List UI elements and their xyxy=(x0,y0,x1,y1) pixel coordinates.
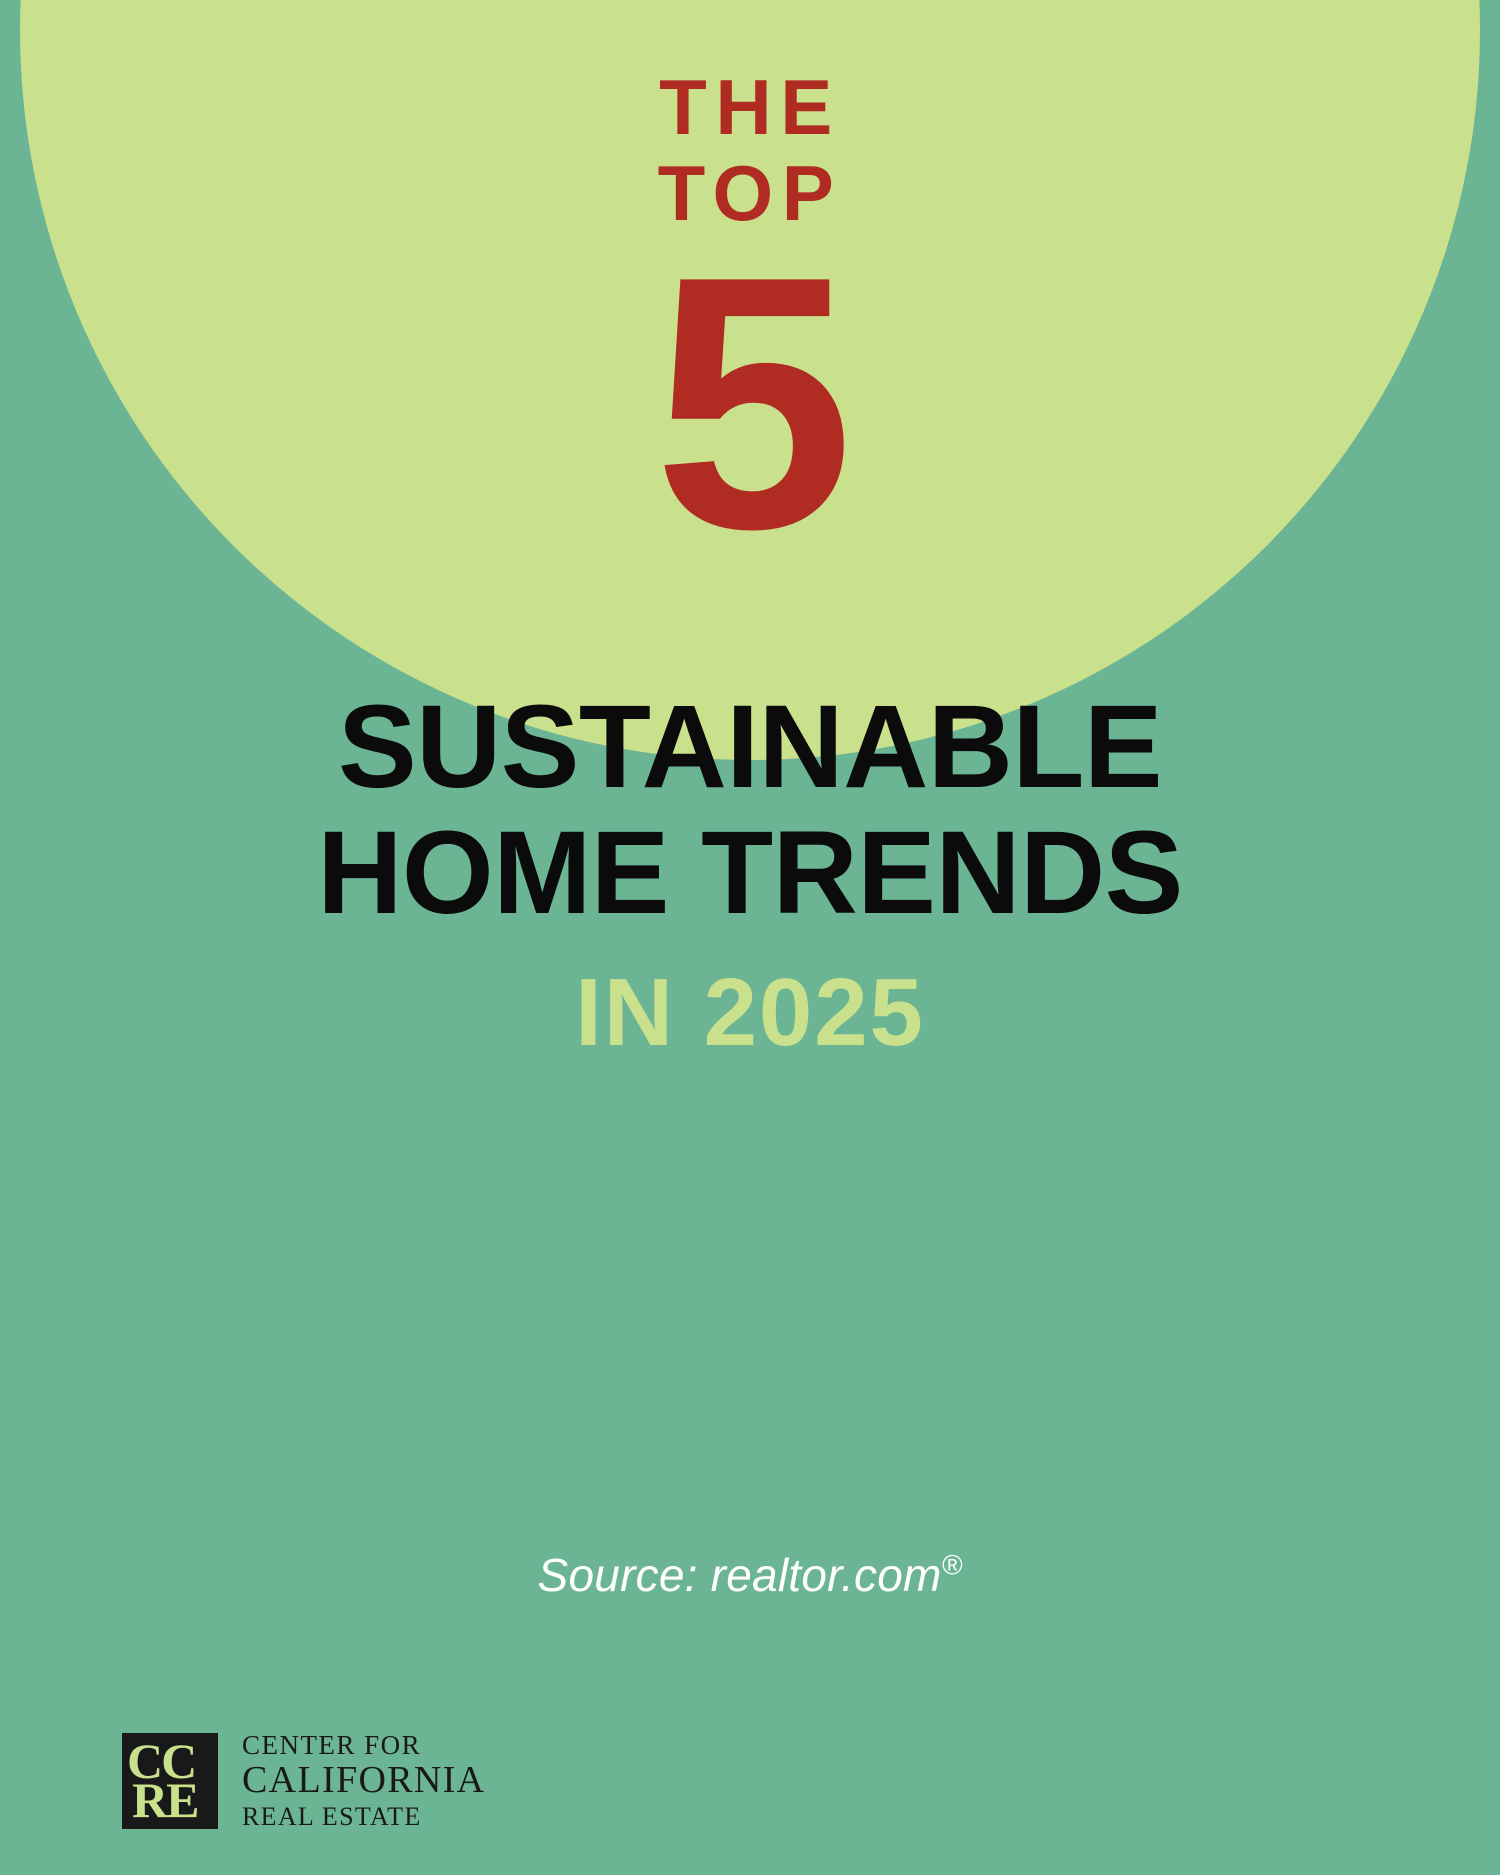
headline-line-2: HOME TRENDS xyxy=(0,816,1500,932)
headline-block: SUSTAINABLE HOME TRENDS IN 2025 xyxy=(0,690,1500,1061)
source-block: Source: realtor.com® xyxy=(0,1548,1500,1602)
poster-canvas: THE TOP 5 SUSTAINABLE HOME TRENDS IN 202… xyxy=(0,0,1500,1875)
rank-numeral: 5 xyxy=(0,252,1500,554)
ccre-logo: CC RE CENTER FOR CALIFORNIA REAL ESTATE xyxy=(122,1730,485,1831)
ccre-logo-mark: CC RE xyxy=(122,1733,218,1829)
logo-line-2: CALIFORNIA xyxy=(242,1760,485,1802)
source-attribution: Source: realtor.com® xyxy=(538,1549,963,1601)
registered-trademark-icon: ® xyxy=(942,1550,963,1581)
headline-year: IN 2025 xyxy=(0,965,1500,1061)
logo-mark-re: RE xyxy=(132,1775,197,1825)
headline-line-1: SUSTAINABLE xyxy=(0,690,1500,806)
logo-line-1: CENTER FOR xyxy=(242,1730,485,1760)
top-five-block: THE TOP 5 xyxy=(0,72,1500,554)
ccre-logo-wordmark: CENTER FOR CALIFORNIA REAL ESTATE xyxy=(242,1730,485,1831)
logo-line-3: REAL ESTATE xyxy=(242,1802,485,1831)
the-word: THE xyxy=(0,72,1500,144)
source-label: Source: realtor.com xyxy=(538,1549,942,1601)
